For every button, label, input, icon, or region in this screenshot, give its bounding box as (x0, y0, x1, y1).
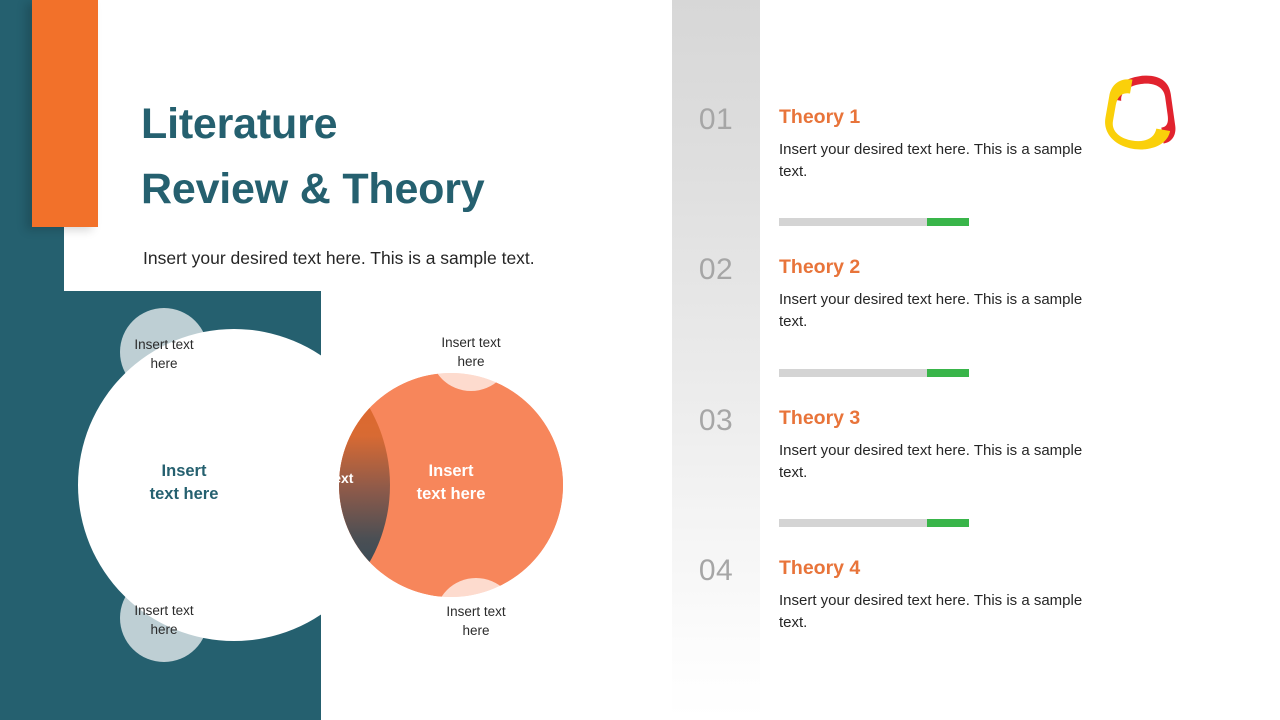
page-title-line-1: Literature (141, 92, 681, 157)
bubble-text-line1: Insert text (446, 604, 506, 619)
venn-bubble-bottom-right: Insert text here (435, 578, 517, 660)
slide-canvas: Literature Review & Theory Insert your d… (0, 0, 1280, 720)
theory-body-1: Insert your desired text here. This is a… (779, 139, 1109, 183)
venn-label-center-line1: Insert text (287, 470, 354, 486)
theory-progress-fill-2 (927, 369, 969, 377)
theory-body-3: Insert your desired text here. This is a… (779, 440, 1109, 484)
theory-progress-fill-3 (927, 519, 969, 527)
venn-bubble-top-left: Insert text here (120, 308, 208, 396)
theory-item-4[interactable]: Theory 4 Insert your desired text here. … (779, 559, 1109, 634)
bubble-text-line2: here (150, 622, 177, 637)
theory-progress-bar-2[interactable] (779, 369, 969, 377)
bubble-text-line2: here (150, 356, 177, 371)
theory-title-2: Theory 2 (779, 258, 1109, 278)
venn-label-right-line1: Insert (429, 462, 474, 480)
theory-number-03: 03 (672, 404, 760, 438)
theory-body-4: Insert your desired text here. This is a… (779, 590, 1109, 634)
page-title: Literature Review & Theory (141, 92, 681, 221)
bubble-text-line2: here (462, 623, 489, 638)
theory-progress-bar-3[interactable] (779, 519, 969, 527)
bubble-text-line1: Insert text (134, 603, 194, 618)
page-title-line-2: Review & Theory (141, 157, 681, 222)
theory-body-2: Insert your desired text here. This is a… (779, 289, 1109, 333)
venn-label-center-line2: here (305, 489, 335, 505)
theory-item-1[interactable]: Theory 1 Insert your desired text here. … (779, 108, 1109, 183)
page-subtitle: Insert your desired text here. This is a… (143, 247, 703, 270)
theory-number-04: 04 (672, 554, 760, 588)
theory-title-4: Theory 4 (779, 559, 1109, 579)
venn-bubble-top-right: Insert text here (430, 309, 512, 391)
theory-item-3[interactable]: Theory 3 Insert your desired text here. … (779, 409, 1109, 484)
bubble-text-line2: here (457, 354, 484, 369)
bubble-text-line1: Insert text (441, 335, 501, 350)
orange-accent-bar (32, 0, 98, 227)
venn-label-left-line2: text here (150, 485, 219, 503)
theory-item-2[interactable]: Theory 2 Insert your desired text here. … (779, 258, 1109, 333)
venn-label-right-line2: text here (417, 485, 486, 503)
bubble-text-line1: Insert text (134, 337, 194, 352)
theory-progress-bar-1[interactable] (779, 218, 969, 226)
theory-number-01: 01 (672, 103, 760, 137)
brand-logo-icon (1097, 68, 1189, 156)
theory-title-1: Theory 1 (779, 108, 1109, 128)
venn-bubble-bottom-left: Insert text here (120, 574, 208, 662)
venn-diagram: Insert text here Insert text here Insert… (0, 280, 680, 700)
venn-label-left-line1: Insert (162, 462, 207, 480)
theory-title-3: Theory 3 (779, 409, 1109, 429)
theory-progress-fill-1 (927, 218, 969, 226)
